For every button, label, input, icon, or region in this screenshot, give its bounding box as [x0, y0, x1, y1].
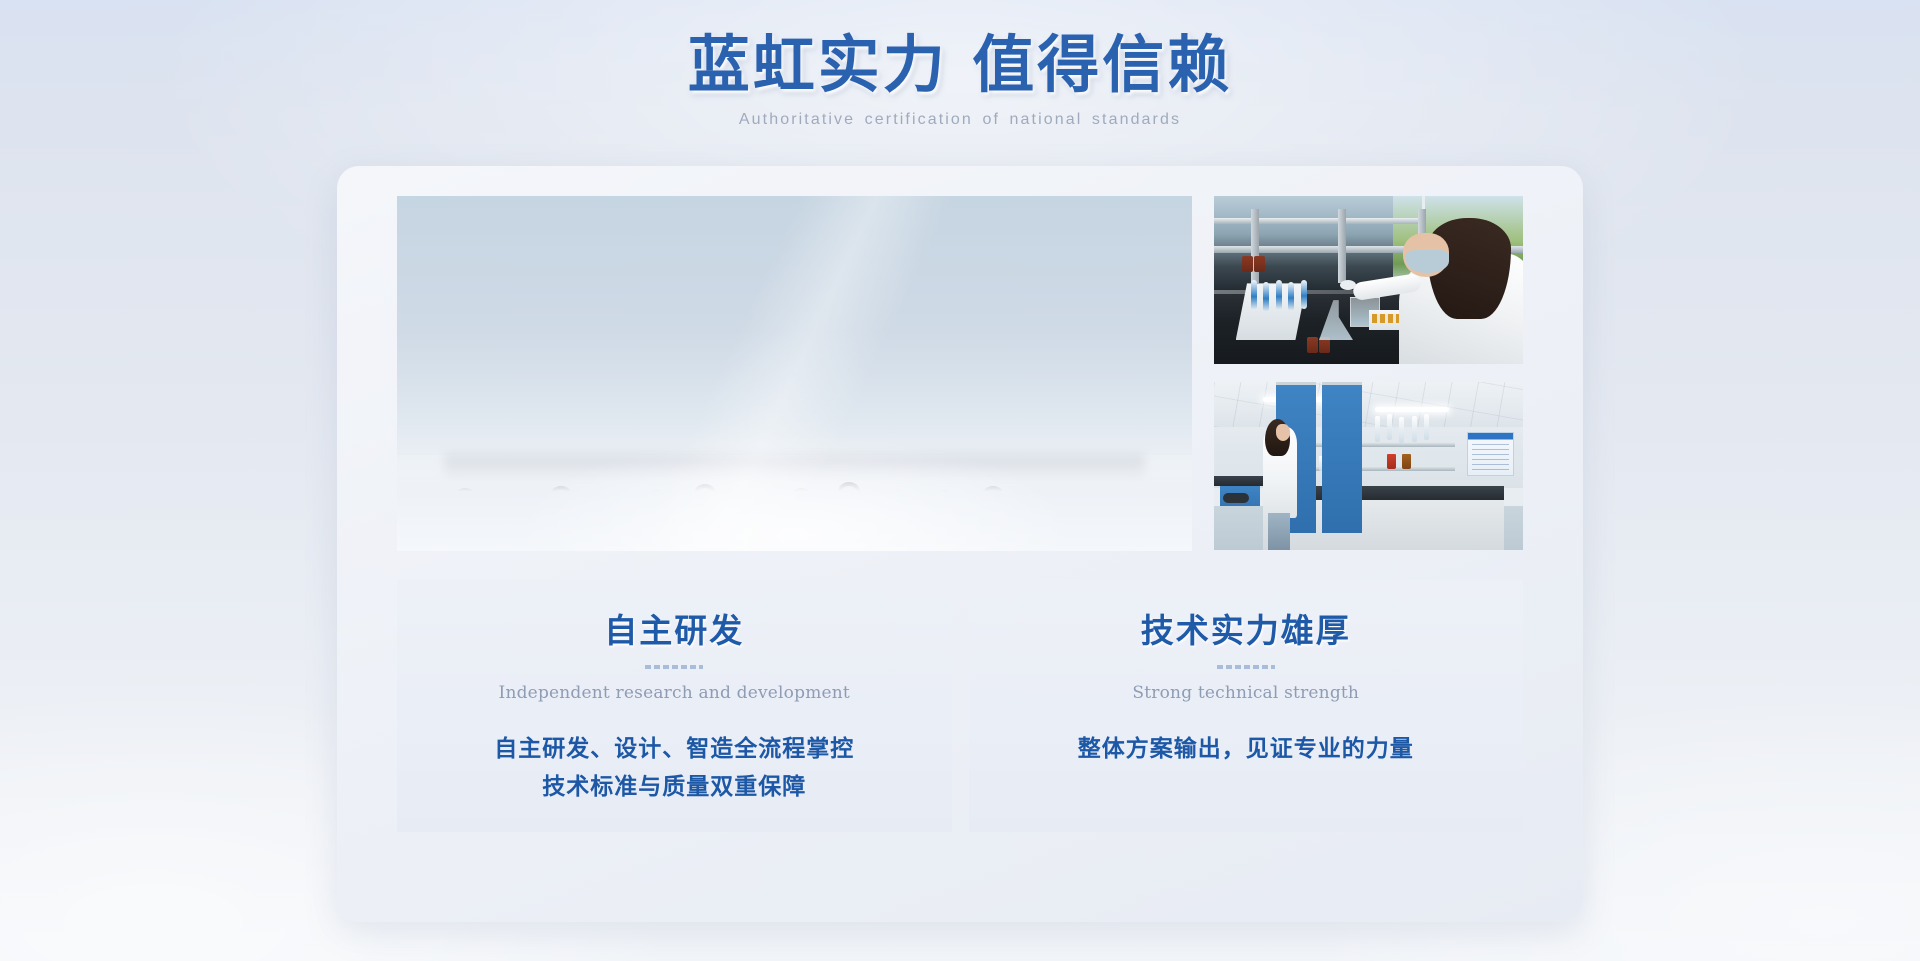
media-gallery	[397, 196, 1523, 551]
feature-card-description-line: 技术标准与质量双重保障	[397, 768, 952, 806]
lab2-side-benchtop	[1214, 476, 1270, 486]
lab1-pipette-4	[1288, 282, 1294, 311]
laboratory-overview-photo[interactable]	[1214, 382, 1523, 550]
company-team-group-photo[interactable]	[397, 196, 1192, 551]
lab2-ceiling	[1214, 382, 1523, 427]
group-photo-sheen	[397, 196, 1192, 551]
content-panel: 自主研发 Independent research and developmen…	[337, 166, 1583, 922]
lab2-glass-tube-5	[1424, 414, 1429, 440]
lab2-glass-tube-1	[1375, 416, 1380, 442]
feature-card-english-subtitle: Independent research and development	[397, 683, 952, 703]
lab1-amber-bottle-2	[1254, 256, 1265, 272]
lab1-amber-bottle-3	[1307, 337, 1318, 353]
lab1-pipette-5	[1301, 280, 1307, 309]
lab2-glass-tube-3	[1399, 417, 1404, 443]
feature-card-technical-strength[interactable]: 技术实力雄厚 Strong technical strength 整体方案输出，…	[969, 580, 1524, 832]
lab1-pipette-1	[1251, 280, 1257, 310]
lab-technician-pipetting-photo[interactable]	[1214, 196, 1523, 364]
lab2-island-drawer-2	[1322, 382, 1362, 533]
feature-card-list: 自主研发 Independent research and developmen…	[397, 580, 1523, 832]
lab1-technician-mask	[1406, 250, 1449, 274]
dotted-divider-icon	[645, 665, 703, 669]
lab1-pipette-3	[1276, 280, 1282, 310]
lab1-pipette-rack	[1236, 283, 1307, 340]
lab2-reagent-bottle-6	[1387, 454, 1396, 469]
lab-photo-column	[1214, 196, 1523, 551]
lab1-back-wall	[1214, 196, 1399, 290]
feature-card-independent-rd[interactable]: 自主研发 Independent research and developmen…	[397, 580, 952, 832]
lab2-glass-tube-2	[1387, 414, 1392, 440]
lab2-safety-poster	[1467, 432, 1513, 476]
lab2-technician-face	[1276, 424, 1290, 441]
lab2-reagent-bottle-7	[1402, 454, 1411, 469]
feature-card-title: 自主研发	[397, 604, 952, 652]
feature-card-description-line: 整体方案输出，见证专业的力量	[969, 730, 1524, 768]
lab1-pipette-2	[1263, 282, 1269, 312]
lab1-amber-bottle-1	[1242, 256, 1253, 272]
lab1-shelf-post-left	[1251, 209, 1259, 283]
dotted-divider-icon	[1217, 665, 1275, 669]
feature-card-description-line: 自主研发、设计、智造全流程掌控	[397, 730, 952, 768]
lab2-glass-tube-4	[1412, 416, 1417, 442]
feature-card-description: 自主研发、设计、智造全流程掌控 技术标准与质量双重保障	[397, 730, 952, 806]
feature-card-description: 整体方案输出，见证专业的力量	[969, 730, 1524, 768]
lab1-upper-shelf	[1214, 218, 1418, 224]
lab2-lab-stool	[1223, 493, 1249, 503]
lab1-shelf-post-mid	[1338, 209, 1346, 283]
page-subtitle: Authoritative certification of national …	[0, 111, 1920, 129]
page-header: 蓝虹实力 值得信赖 Authoritative certification of…	[0, 28, 1920, 129]
lab2-ceiling-light-2	[1375, 407, 1449, 412]
feature-card-english-subtitle: Strong technical strength	[969, 683, 1524, 703]
page-title: 蓝虹实力 值得信赖	[0, 28, 1920, 101]
lab2-technician-legs	[1268, 513, 1290, 550]
feature-card-title: 技术实力雄厚	[969, 604, 1524, 652]
